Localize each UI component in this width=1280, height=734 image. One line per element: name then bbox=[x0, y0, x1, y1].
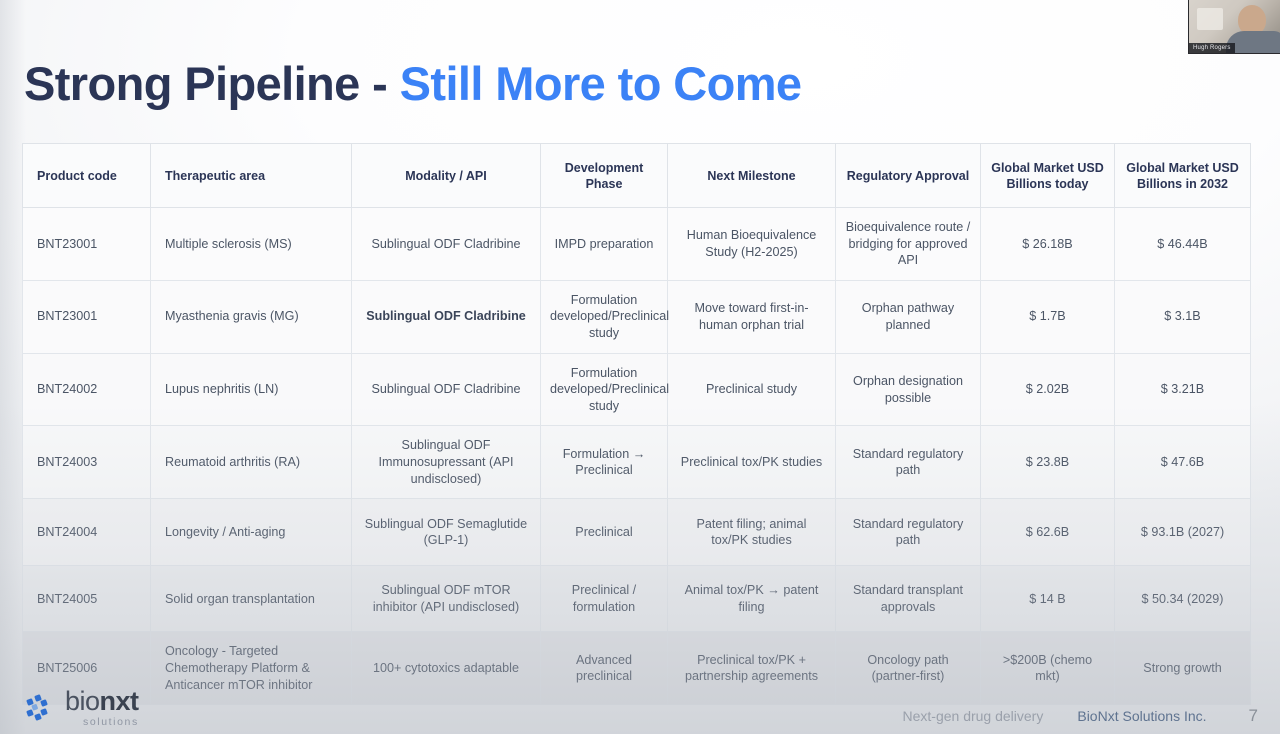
cell-product-code: BNT24005 bbox=[23, 566, 151, 632]
cell-therapeutic-area: Longevity / Anti-aging bbox=[151, 499, 352, 566]
cell-market-today: $ 26.18B bbox=[981, 208, 1115, 281]
col-header-product-code: Product code bbox=[23, 144, 151, 208]
cell-development-phase: Preclinical / formulation bbox=[541, 566, 668, 632]
col-header-therapeutic-area: Therapeutic area bbox=[151, 144, 352, 208]
page-title-accent: Still More to Come bbox=[400, 57, 802, 110]
cell-development-phase: IMPD preparation bbox=[541, 208, 668, 281]
cell-product-code: BNT24003 bbox=[23, 426, 151, 499]
cell-modality-api: 100+ cytotoxics adaptable bbox=[352, 632, 541, 705]
presentation-slide: Strong Pipeline - Still More to Come Pro… bbox=[0, 0, 1280, 734]
cell-next-milestone: Move toward first-in-human orphan trial bbox=[668, 280, 836, 353]
cell-market-2032: $ 47.6B bbox=[1115, 426, 1251, 499]
cell-therapeutic-area: Oncology - Targeted Chemotherapy Platfor… bbox=[151, 632, 352, 705]
cell-regulatory-approval: Standard transplant approvals bbox=[836, 566, 981, 632]
page-title-main: Strong Pipeline - bbox=[24, 57, 400, 110]
cell-market-today: $ 14 B bbox=[981, 566, 1115, 632]
cell-development-phase: Formulation developed/Preclinical study bbox=[541, 280, 668, 353]
cell-next-milestone: Animal tox/PK → patent filing bbox=[668, 566, 836, 632]
table-row: BNT24002 Lupus nephritis (LN) Sublingual… bbox=[23, 353, 1251, 426]
cell-next-milestone: Preclinical tox/PK + partnership agreeme… bbox=[668, 632, 836, 705]
table-row: BNT23001 Multiple sclerosis (MS) Subling… bbox=[23, 208, 1251, 281]
cell-development-phase: Advanced preclinical bbox=[541, 632, 668, 705]
cell-therapeutic-area: Solid organ transplantation bbox=[151, 566, 352, 632]
col-header-modality-api: Modality / API bbox=[352, 144, 541, 208]
cell-next-milestone: Human Bioequivalence Study (H2-2025) bbox=[668, 208, 836, 281]
cell-regulatory-approval: Orphan pathway planned bbox=[836, 280, 981, 353]
cell-regulatory-approval: Standard regulatory path bbox=[836, 426, 981, 499]
cell-therapeutic-area: Reumatoid arthritis (RA) bbox=[151, 426, 352, 499]
cell-next-milestone: Patent filing; animal tox/PK studies bbox=[668, 499, 836, 566]
slide-footer: Next-gen drug delivery BioNxt Solutions … bbox=[0, 706, 1280, 726]
cell-market-2032: $ 50.34 (2029) bbox=[1115, 566, 1251, 632]
cell-development-phase: Preclinical bbox=[541, 499, 668, 566]
cell-modality-api: Sublingual ODF mTOR inhibitor (API undis… bbox=[352, 566, 541, 632]
col-header-regulatory-approval: Regulatory Approval bbox=[836, 144, 981, 208]
cell-market-2032: Strong growth bbox=[1115, 632, 1251, 705]
col-header-market-2032: Global Market USD Billions in 2032 bbox=[1115, 144, 1251, 208]
pipeline-table: Product code Therapeutic area Modality /… bbox=[22, 143, 1251, 705]
cell-market-2032: $ 3.1B bbox=[1115, 280, 1251, 353]
table-header: Product code Therapeutic area Modality /… bbox=[23, 144, 1251, 208]
pipeline-table-container: Product code Therapeutic area Modality /… bbox=[22, 143, 1250, 705]
col-header-next-milestone: Next Milestone bbox=[668, 144, 836, 208]
table-row: BNT25006 Oncology - Targeted Chemotherap… bbox=[23, 632, 1251, 705]
cell-market-today: $ 2.02B bbox=[981, 353, 1115, 426]
cell-therapeutic-area: Myasthenia gravis (MG) bbox=[151, 280, 352, 353]
cell-product-code: BNT23001 bbox=[23, 280, 151, 353]
cell-product-code: BNT24002 bbox=[23, 353, 151, 426]
table-row: BNT23001 Myasthenia gravis (MG) Sublingu… bbox=[23, 280, 1251, 353]
cell-modality-api: Sublingual ODF Cladribine bbox=[352, 208, 541, 281]
cell-modality-api: Sublingual ODF Semaglutide (GLP-1) bbox=[352, 499, 541, 566]
table-row: BNT24004 Longevity / Anti-aging Sublingu… bbox=[23, 499, 1251, 566]
table-body: BNT23001 Multiple sclerosis (MS) Subling… bbox=[23, 208, 1251, 705]
cell-development-phase: Formulation → Preclinical bbox=[541, 426, 668, 499]
cell-market-today: $ 62.6B bbox=[981, 499, 1115, 566]
table-row: BNT24003 Reumatoid arthritis (RA) Sublin… bbox=[23, 426, 1251, 499]
cell-regulatory-approval: Bioequivalence route / bridging for appr… bbox=[836, 208, 981, 281]
cell-product-code: BNT23001 bbox=[23, 208, 151, 281]
table-row: BNT24005 Solid organ transplantation Sub… bbox=[23, 566, 1251, 632]
cell-market-2032: $ 93.1B (2027) bbox=[1115, 499, 1251, 566]
webcam-background-wall bbox=[1197, 8, 1223, 30]
table-header-row: Product code Therapeutic area Modality /… bbox=[23, 144, 1251, 208]
cell-modality-api: Sublingual ODF Cladribine bbox=[352, 280, 541, 353]
cell-therapeutic-area: Multiple sclerosis (MS) bbox=[151, 208, 352, 281]
cell-market-2032: $ 3.21B bbox=[1115, 353, 1251, 426]
footer-tagline: Next-gen drug delivery bbox=[903, 708, 1044, 724]
cell-modality-api: Sublingual ODF Immunosupressant (API und… bbox=[352, 426, 541, 499]
cell-market-2032: $ 46.44B bbox=[1115, 208, 1251, 281]
cell-market-today: $ 23.8B bbox=[981, 426, 1115, 499]
cell-market-today: >$200B (chemo mkt) bbox=[981, 632, 1115, 705]
cell-market-today: $ 1.7B bbox=[981, 280, 1115, 353]
cell-regulatory-approval: Oncology path (partner-first) bbox=[836, 632, 981, 705]
page-number: 7 bbox=[1249, 706, 1258, 726]
cell-next-milestone: Preclinical study bbox=[668, 353, 836, 426]
cell-therapeutic-area: Lupus nephritis (LN) bbox=[151, 353, 352, 426]
webcam-participant-name: Hugh Rogers bbox=[1189, 43, 1235, 53]
cell-modality-api: Sublingual ODF Cladribine bbox=[352, 353, 541, 426]
cell-regulatory-approval: Orphan designation possible bbox=[836, 353, 981, 426]
col-header-development-phase: Development Phase bbox=[541, 144, 668, 208]
footer-company: BioNxt Solutions Inc. bbox=[1077, 708, 1206, 724]
col-header-market-today: Global Market USD Billions today bbox=[981, 144, 1115, 208]
page-title: Strong Pipeline - Still More to Come bbox=[24, 56, 801, 111]
cell-product-code: BNT24004 bbox=[23, 499, 151, 566]
webcam-overlay[interactable]: Hugh Rogers bbox=[1188, 0, 1280, 54]
cell-regulatory-approval: Standard regulatory path bbox=[836, 499, 981, 566]
cell-development-phase: Formulation developed/Preclinical study bbox=[541, 353, 668, 426]
cell-next-milestone: Preclinical tox/PK studies bbox=[668, 426, 836, 499]
